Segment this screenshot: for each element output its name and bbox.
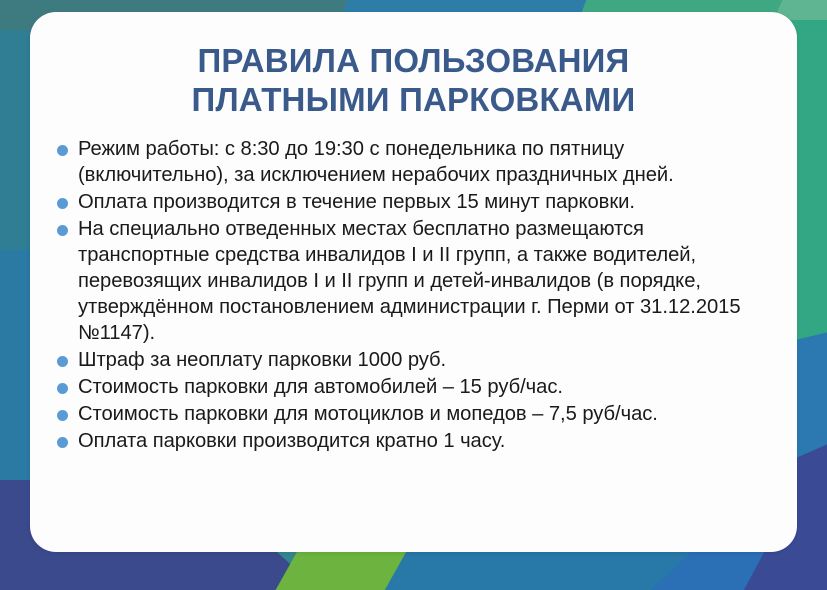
- bullet-dot-icon: [57, 198, 68, 209]
- bullet-dot-icon: [57, 145, 68, 156]
- bullet-dot-icon: [57, 383, 68, 394]
- list-item: Оплата производится в течение первых 15 …: [52, 190, 767, 216]
- page-title-line-1: ПРАВИЛА ПОЛЬЗОВАНИЯ: [64, 42, 763, 81]
- bullet-dot-icon: [57, 356, 68, 367]
- list-item-text: На специально отведенных местах бесплатн…: [78, 217, 767, 347]
- list-item-text: Стоимость парковки для автомобилей – 15 …: [78, 375, 767, 401]
- bullet-dot-icon: [57, 225, 68, 236]
- page-title: ПРАВИЛА ПОЛЬЗОВАНИЯ ПЛАТНЫМИ ПАРКОВКАМИ: [30, 12, 797, 119]
- list-item-text: Режим работы: с 8:30 до 19:30 с понедель…: [78, 137, 767, 189]
- list-item-text: Стоимость парковки для мотоциклов и мопе…: [78, 402, 767, 428]
- list-item: На специально отведенных местах бесплатн…: [52, 217, 767, 347]
- list-item: Стоимость парковки для автомобилей – 15 …: [52, 375, 767, 401]
- rules-list: Режим работы: с 8:30 до 19:30 с понедель…: [30, 119, 797, 454]
- list-item: Оплата парковки производится кратно 1 ча…: [52, 429, 767, 455]
- parking-rules-poster: ПРАВИЛА ПОЛЬЗОВАНИЯ ПЛАТНЫМИ ПАРКОВКАМИ …: [0, 0, 827, 590]
- list-item: Режим работы: с 8:30 до 19:30 с понедель…: [52, 137, 767, 189]
- list-item-text: Штраф за неоплату парковки 1000 руб.: [78, 348, 767, 374]
- list-item-text: Оплата парковки производится кратно 1 ча…: [78, 429, 767, 455]
- content-card: ПРАВИЛА ПОЛЬЗОВАНИЯ ПЛАТНЫМИ ПАРКОВКАМИ …: [30, 12, 797, 552]
- list-item: Штраф за неоплату парковки 1000 руб.: [52, 348, 767, 374]
- bullet-dot-icon: [57, 410, 68, 421]
- list-item-text: Оплата производится в течение первых 15 …: [78, 190, 767, 216]
- bullet-dot-icon: [57, 437, 68, 448]
- list-item: Стоимость парковки для мотоциклов и мопе…: [52, 402, 767, 428]
- page-title-line-2: ПЛАТНЫМИ ПАРКОВКАМИ: [64, 81, 763, 120]
